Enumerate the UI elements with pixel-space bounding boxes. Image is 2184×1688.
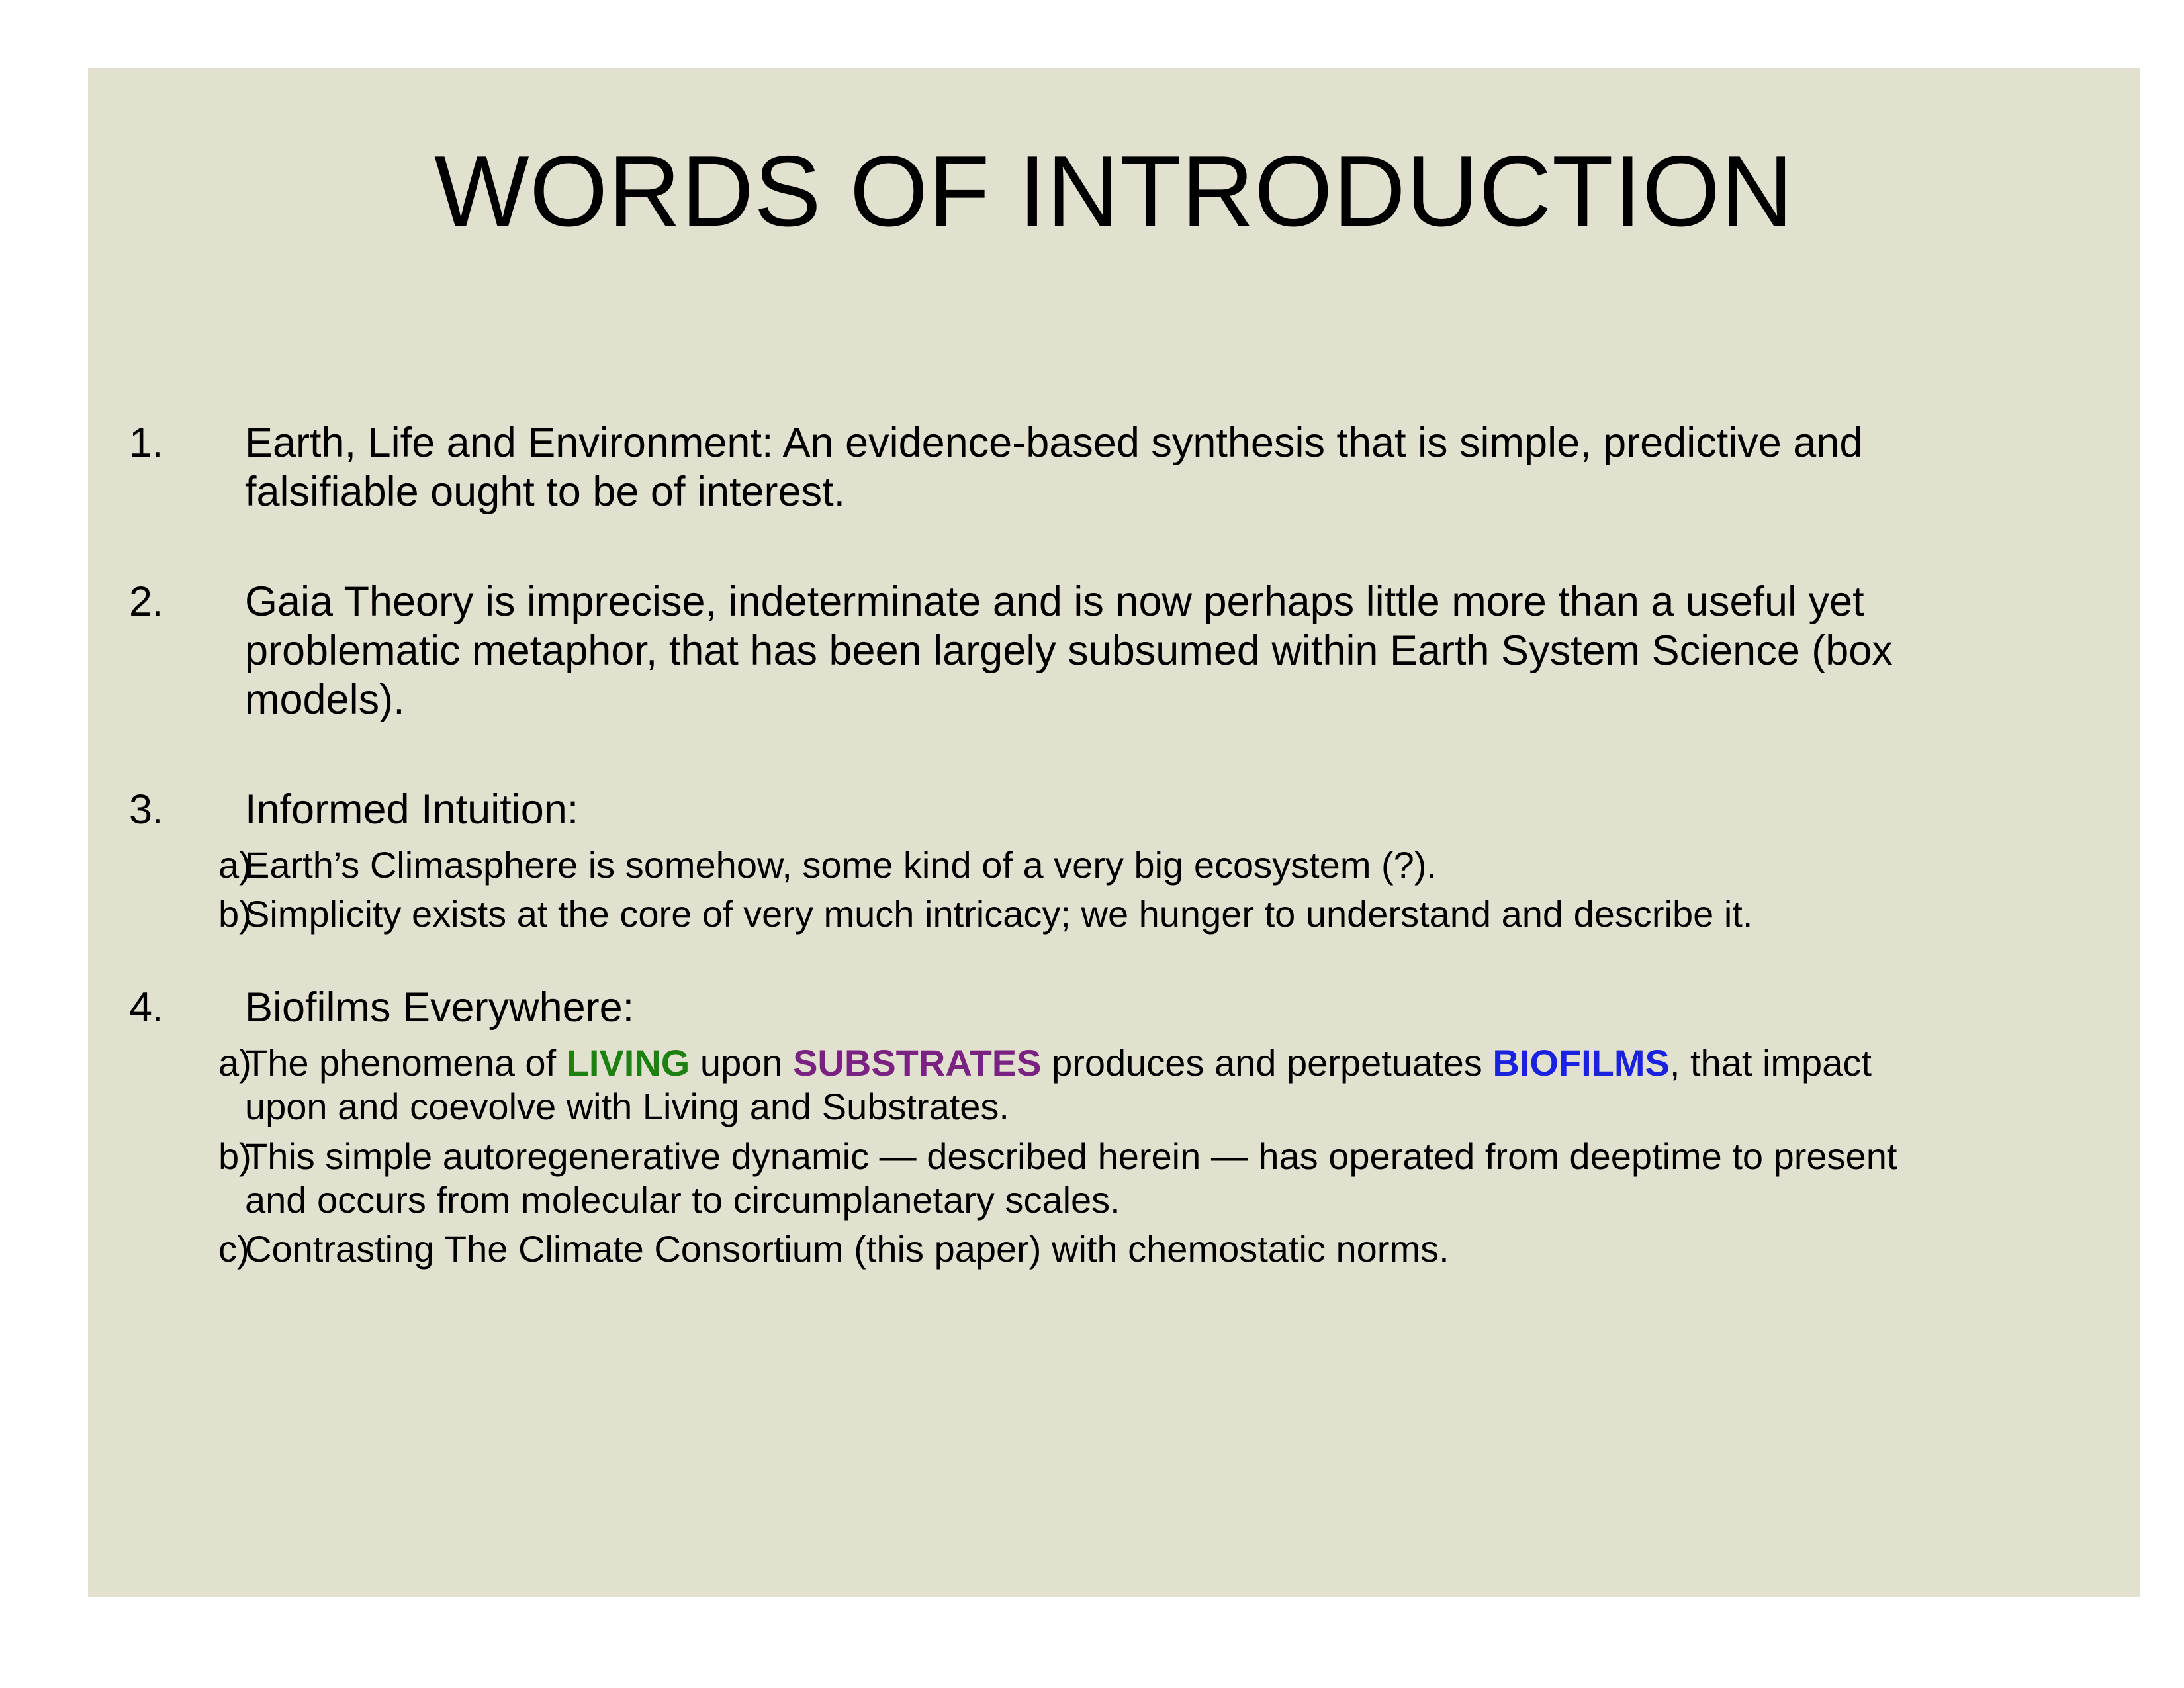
- list-item-text: Earth’s Climasphere is somehow, some kin…: [245, 843, 1939, 887]
- keyword-substrates: SUBSTRATES: [793, 1042, 1041, 1084]
- spacer: [129, 516, 2115, 577]
- list-marker: b): [129, 892, 245, 936]
- keyword-biofilms: BIOFILMS: [1492, 1042, 1670, 1084]
- list-item-2: 2. Gaia Theory is imprecise, indetermina…: [129, 577, 2115, 724]
- list-item-4b: b) This simple autoregenerative dynamic …: [129, 1135, 2115, 1223]
- list-item-1: 1. Earth, Life and Environment: An evide…: [129, 418, 2115, 516]
- list-item-3a: a) Earth’s Climasphere is somehow, some …: [129, 843, 2115, 887]
- list-item-4: 4. Biofilms Everywhere:: [129, 983, 2115, 1032]
- list-marker: 1.: [129, 418, 245, 467]
- spacer: [129, 1222, 2115, 1227]
- keyword-living: LIVING: [567, 1042, 690, 1084]
- list-item-text: Informed Intuition:: [245, 785, 2038, 834]
- text-fragment: produces and perpetuates: [1042, 1042, 1493, 1084]
- list-item-text: The phenomena of LIVING upon SUBSTRATES …: [245, 1041, 1939, 1129]
- list-marker: a): [129, 843, 245, 887]
- spacer: [129, 724, 2115, 785]
- list-marker: 4.: [129, 983, 245, 1032]
- list-marker: 3.: [129, 785, 245, 834]
- list-marker: 2.: [129, 577, 245, 626]
- list-item-text: Contrasting The Climate Consortium (this…: [245, 1227, 1939, 1271]
- list-item-4c: c) Contrasting The Climate Consortium (t…: [129, 1227, 2115, 1271]
- text-fragment: upon: [690, 1042, 793, 1084]
- list-marker: b): [129, 1135, 245, 1178]
- spacer: [129, 1032, 2115, 1041]
- list-item-text: This simple autoregenerative dynamic — d…: [245, 1135, 1939, 1223]
- list-item-text: Earth, Life and Environment: An evidence…: [245, 418, 2038, 516]
- spacer: [129, 834, 2115, 843]
- list-item-text: Simplicity exists at the core of very mu…: [245, 892, 1939, 936]
- list-item-4a: a) The phenomena of LIVING upon SUBSTRAT…: [129, 1041, 2115, 1129]
- spacer: [129, 1129, 2115, 1135]
- page-title: WORDS OF INTRODUCTION: [88, 140, 2140, 243]
- spacer: [129, 887, 2115, 892]
- presentation-slide: WORDS OF INTRODUCTION 1. Earth, Life and…: [88, 68, 2140, 1597]
- list-marker: c): [129, 1227, 245, 1271]
- list-item-text: Gaia Theory is imprecise, indeterminate …: [245, 577, 2038, 724]
- list-item-text: Biofilms Everywhere:: [245, 983, 2038, 1032]
- slide-body: 1. Earth, Life and Environment: An evide…: [129, 418, 2115, 1272]
- list-item-3: 3. Informed Intuition:: [129, 785, 2115, 834]
- list-item-3b: b) Simplicity exists at the core of very…: [129, 892, 2115, 936]
- list-marker: a): [129, 1041, 245, 1085]
- spacer: [129, 937, 2115, 983]
- text-fragment: The phenomena of: [245, 1042, 567, 1084]
